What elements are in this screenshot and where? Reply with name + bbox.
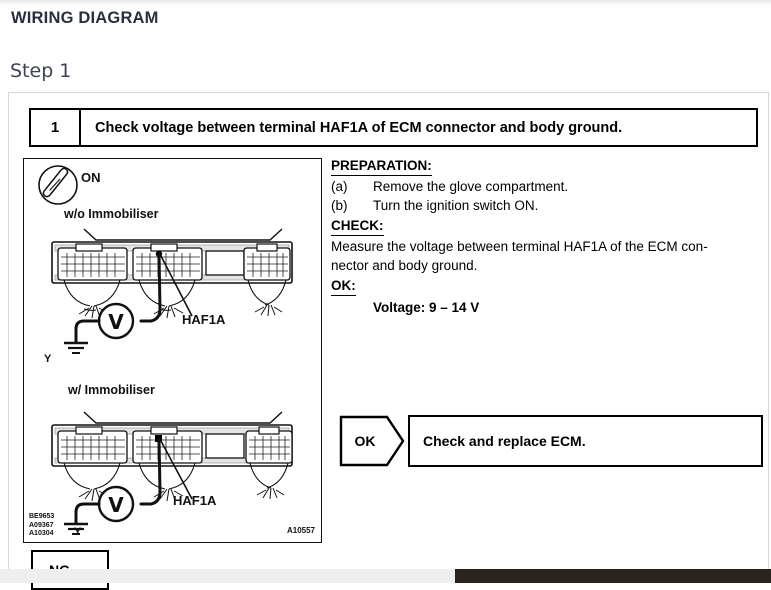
preparation-item: (b) Turn the ignition switch ON. xyxy=(331,196,761,216)
preparation-item: (a) Remove the glove compartment. xyxy=(331,177,761,197)
top-connector-blank xyxy=(206,251,244,275)
ok-voltage-value: Voltage: 9 – 14 V xyxy=(373,300,761,315)
preparation-heading: PREPARATION: xyxy=(331,158,432,176)
step-header-row: 1 Check voltage between terminal HAF1A o… xyxy=(29,108,758,147)
wire-color-top: Y xyxy=(44,353,51,365)
bottom-dark-bar xyxy=(455,569,771,583)
terminal-label-bottom: HAF1A xyxy=(173,493,216,508)
ref-code-2: A09367 xyxy=(29,522,54,531)
preparation-item-key: (b) xyxy=(331,196,373,216)
top-voltmeter: V xyxy=(99,304,133,338)
ok-result-row: OK Check and replace ECM. xyxy=(339,415,763,467)
check-text-line1: Measure the voltage between terminal HAF… xyxy=(331,237,761,256)
ok-arrow-shape: OK xyxy=(339,415,405,467)
check-heading: CHECK: xyxy=(331,218,384,236)
check-text-line2: nector and body ground. xyxy=(331,256,761,275)
step-number: 1 xyxy=(29,108,81,147)
page-title: WIRING DIAGRAM xyxy=(11,9,159,28)
ok-result-action: Check and replace ECM. xyxy=(408,415,763,467)
window-top-chrome xyxy=(0,0,771,6)
preparation-item-text: Turn the ignition switch ON. xyxy=(373,196,538,216)
preparation-item-key: (a) xyxy=(331,177,373,197)
ignition-on-label: ON xyxy=(81,170,101,185)
bottom-connector-blank xyxy=(206,434,244,458)
wiring-illustration: V xyxy=(23,158,322,543)
reference-codes: BE9653 A09367 A10304 xyxy=(29,513,54,539)
step-label: Step 1 xyxy=(10,60,71,82)
step-card: 1 Check voltage between terminal HAF1A o… xyxy=(8,92,769,576)
svg-text:V: V xyxy=(108,493,124,517)
wire-color-bottom: Y xyxy=(74,526,81,538)
preparation-item-text: Remove the glove compartment. xyxy=(373,177,568,197)
variant-label-top: w/o Immobiliser xyxy=(64,207,158,221)
ref-code-3: A10304 xyxy=(29,530,54,539)
svg-text:V: V xyxy=(108,310,124,334)
ok-arrow-label: OK xyxy=(339,415,391,467)
variant-label-bottom: w/ Immobiliser xyxy=(68,383,155,397)
figure-code: A10557 xyxy=(287,526,315,535)
terminal-label-top: HAF1A xyxy=(182,312,225,327)
ref-code-1: BE9653 xyxy=(29,513,54,522)
bottom-voltmeter: V xyxy=(99,487,133,521)
procedure-text-column: PREPARATION: (a) Remove the glove compar… xyxy=(331,157,761,315)
ok-heading: OK: xyxy=(331,278,356,296)
step-heading: Check voltage between terminal HAF1A of … xyxy=(81,108,758,147)
